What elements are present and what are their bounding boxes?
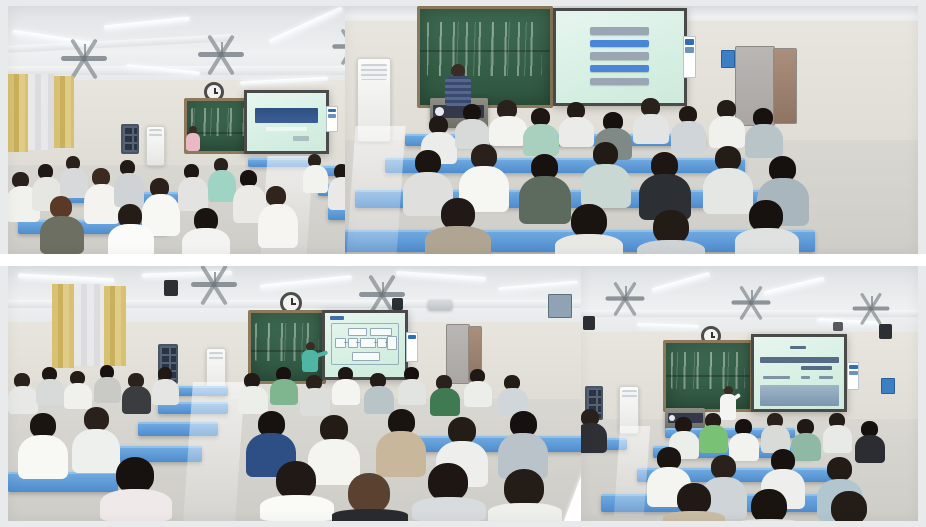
student-torso — [823, 425, 852, 453]
student-torso — [303, 165, 328, 193]
student-torso — [523, 124, 559, 156]
chalk-writing — [671, 352, 745, 389]
student-torso — [745, 124, 783, 158]
slide-photo-strip — [760, 385, 839, 407]
window-curtain — [104, 286, 126, 366]
student-torso — [729, 433, 759, 461]
notice-bar — [408, 335, 416, 339]
wall-notice — [326, 106, 338, 132]
ceiling-fan — [853, 307, 890, 311]
flow-box — [348, 328, 367, 336]
student-torso — [699, 425, 728, 453]
window-curtain — [52, 284, 74, 368]
flow-connector — [374, 342, 377, 343]
student-torso — [364, 386, 394, 414]
wall-window — [548, 294, 572, 318]
flow-box — [370, 328, 392, 336]
slide-button — [590, 27, 649, 34]
chalkboard — [417, 6, 553, 108]
student-head — [571, 204, 607, 238]
student-torso — [488, 503, 562, 521]
panel-bottom-right[interactable] — [581, 266, 918, 521]
lecture-hall-scene-bottom-left — [8, 266, 627, 521]
student-head — [711, 455, 736, 479]
student-torso — [64, 383, 92, 409]
student-head — [504, 469, 544, 507]
row-gap-divider — [0, 254, 926, 266]
student-audience — [345, 94, 918, 254]
student-torso — [737, 519, 801, 521]
student-torso — [703, 168, 753, 214]
wall-notice — [406, 332, 418, 362]
student-torso — [238, 386, 268, 414]
student-head — [50, 196, 72, 218]
student-torso — [100, 489, 172, 521]
student-head — [320, 415, 348, 442]
ceiling-fan — [198, 52, 244, 57]
flow-connector — [344, 342, 348, 343]
student-torso — [36, 379, 64, 405]
slide-subtitle-band — [266, 127, 307, 131]
slide-heading — [330, 316, 344, 320]
student-torso — [671, 121, 706, 153]
student-torso — [182, 228, 230, 254]
lecture-hall-scene-bottom-right — [581, 266, 918, 521]
student-audience — [8, 361, 627, 521]
student-torso — [430, 388, 460, 416]
ceiling-projector — [428, 300, 452, 310]
student-head — [266, 186, 286, 206]
student-torso — [108, 224, 154, 254]
student-torso — [663, 511, 725, 521]
lecture-hall-scene-top-right — [345, 6, 918, 254]
slide-button — [590, 78, 649, 85]
student-audience — [581, 411, 918, 521]
student-torso — [735, 228, 799, 254]
student-head — [448, 417, 476, 444]
student-torso — [581, 423, 607, 453]
student-torso — [791, 433, 821, 461]
projection-screen — [751, 334, 847, 412]
collage-row-bottom — [8, 266, 918, 521]
wall-speaker — [164, 280, 178, 296]
student-head — [116, 457, 154, 493]
student-torso — [709, 116, 745, 148]
student-torso — [412, 497, 486, 521]
student-torso — [559, 117, 594, 147]
board-divider — [666, 375, 750, 377]
student-torso — [464, 381, 492, 407]
wall-speaker — [583, 316, 595, 330]
student-torso — [633, 114, 669, 144]
slide-footer — [763, 376, 790, 380]
student-head — [428, 463, 468, 501]
slide-title — [760, 357, 839, 363]
window — [74, 284, 104, 366]
student-torso — [398, 379, 426, 405]
wall-sign — [881, 378, 895, 394]
panel-bottom-left[interactable] — [8, 266, 627, 521]
ceiling-projector — [833, 322, 843, 331]
student-head — [593, 142, 618, 166]
slide-button — [590, 65, 649, 72]
ceiling-fan — [732, 300, 771, 304]
slide-flowchart — [331, 323, 398, 365]
slide-button-list — [579, 22, 661, 90]
notice-bar — [685, 47, 694, 53]
student-head — [831, 491, 867, 521]
panel-top-right[interactable] — [345, 6, 918, 254]
board-divider — [420, 50, 550, 52]
slide-button — [590, 40, 649, 47]
notice-bar — [849, 371, 857, 375]
ceiling-fan — [191, 282, 237, 287]
student-torso — [270, 379, 298, 405]
student-torso — [208, 170, 236, 202]
student-torso — [300, 388, 330, 416]
student-torso — [855, 435, 885, 463]
wall-speaker — [392, 298, 403, 310]
student-torso — [60, 168, 88, 198]
ceiling-fan — [606, 296, 645, 300]
student-torso — [519, 176, 571, 224]
student-torso — [94, 377, 121, 403]
flow-box — [387, 336, 397, 349]
student-torso — [152, 379, 179, 405]
student-torso — [178, 177, 208, 211]
slide-eyebrow — [790, 346, 806, 350]
wall-notice — [847, 362, 859, 390]
student-head — [827, 457, 852, 481]
flow-box — [352, 352, 380, 360]
flow-connector — [385, 342, 388, 343]
student-torso — [425, 226, 491, 254]
student-torso — [40, 216, 84, 254]
notice-bar — [328, 114, 336, 117]
notice-bar — [685, 39, 694, 45]
student-torso — [581, 164, 631, 208]
slide-title-band — [255, 108, 318, 123]
projection-screen — [553, 8, 687, 106]
wall-notice — [683, 36, 696, 78]
student-torso — [637, 240, 705, 254]
notice-bar — [849, 365, 857, 369]
student-head — [653, 210, 689, 244]
student-torso — [18, 435, 68, 479]
wall-speaker — [879, 324, 892, 339]
student-torso — [260, 495, 334, 521]
wall-sign — [721, 50, 735, 68]
ceiling-fan — [359, 292, 405, 297]
student-head — [751, 489, 787, 521]
student-head — [276, 461, 316, 499]
student-torso — [72, 429, 120, 473]
student-head — [84, 407, 109, 431]
student-torso — [122, 386, 151, 414]
ceiling-fan — [61, 56, 107, 61]
student-head — [348, 473, 390, 513]
collage-row-top — [8, 6, 918, 254]
student-torso — [489, 116, 527, 146]
notice-bar — [328, 109, 336, 112]
student-torso — [332, 509, 408, 521]
student-torso — [376, 431, 426, 477]
slide-button — [590, 52, 649, 59]
student-torso — [332, 379, 360, 405]
slide-subtitle — [801, 366, 832, 370]
slide-footer-date — [801, 376, 810, 380]
photo-collage — [0, 0, 926, 527]
student-torso — [8, 386, 38, 414]
student-torso — [555, 234, 623, 254]
student-torso — [258, 204, 298, 248]
flow-connector — [356, 342, 360, 343]
slide-footer-meta — [819, 376, 833, 380]
student-torso — [114, 173, 144, 207]
